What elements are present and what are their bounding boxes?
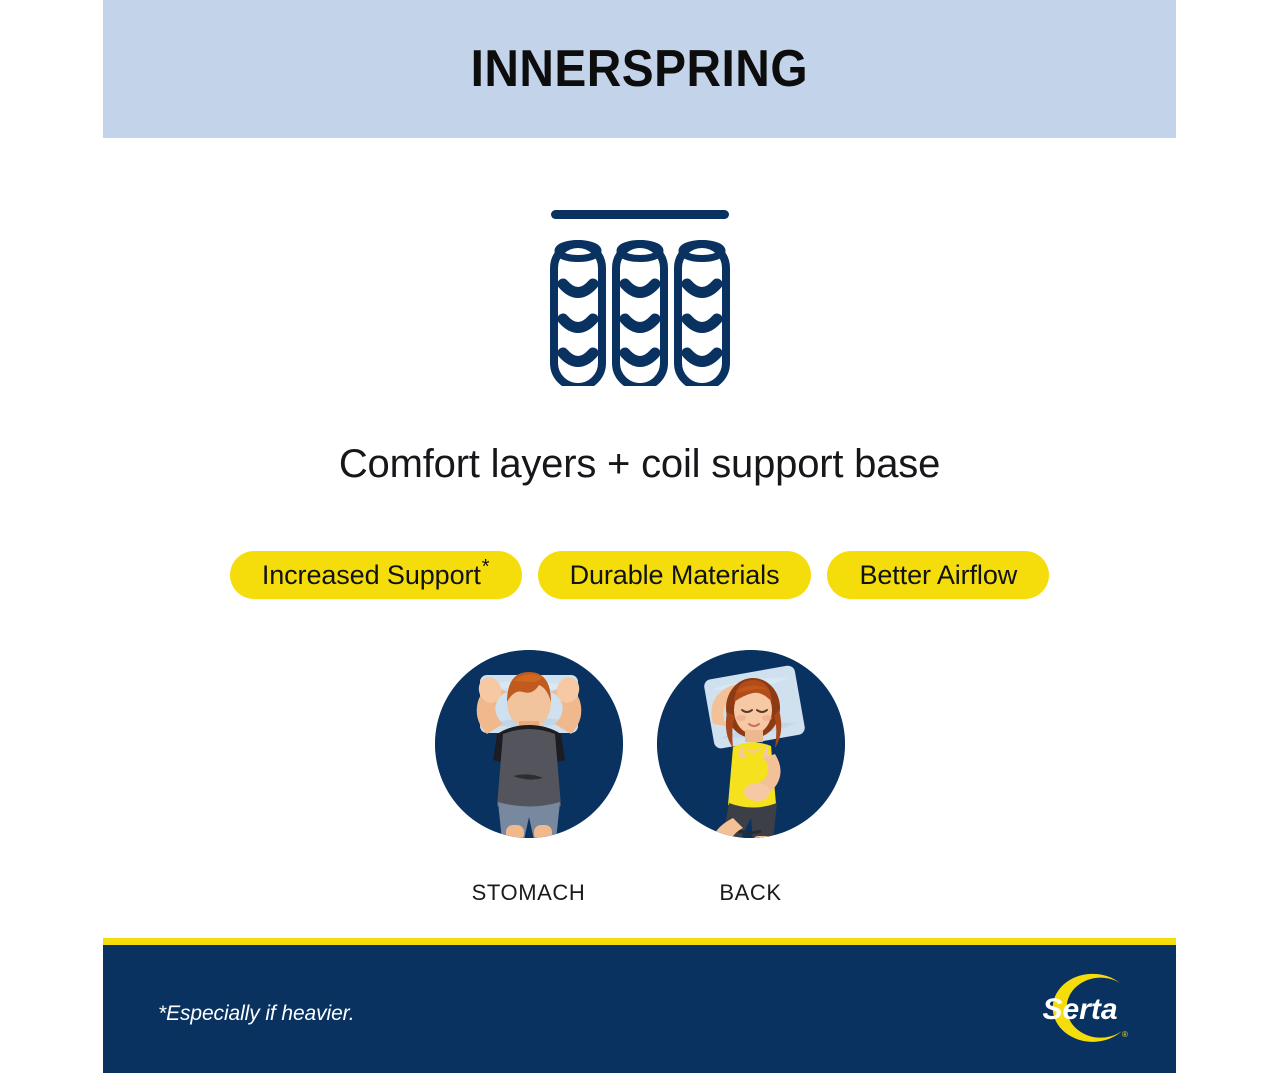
feature-pill-label: Increased Support: [262, 562, 481, 589]
infographic-page: INNERSPRING: [0, 0, 1280, 1073]
stomach-sleeper-circle: [435, 650, 623, 838]
coil-icon-container: [103, 196, 1176, 386]
coil-springs-icon: [540, 196, 740, 386]
feature-pill-row: Increased Support* Durable Materials Bet…: [103, 551, 1176, 599]
footer-bar: *Especially if heavier. Serta ®: [103, 945, 1176, 1073]
sleep-position-label: STOMACH: [472, 880, 586, 906]
stomach-sleeper-illustration: [435, 650, 623, 838]
back-sleeper-illustration: [657, 650, 845, 838]
feature-pill-label: Better Airflow: [859, 562, 1017, 589]
feature-pill-increased-support[interactable]: Increased Support*: [230, 551, 522, 599]
back-sleeper-circle: [657, 650, 845, 838]
footer-accent-rule: [103, 938, 1176, 945]
page-title: INNERSPRING: [471, 39, 808, 99]
feature-pill-better-airflow[interactable]: Better Airflow: [827, 551, 1049, 599]
feature-pill-label: Durable Materials: [570, 562, 780, 589]
sleep-position-stomach[interactable]: STOMACH: [435, 650, 623, 906]
header-banner: INNERSPRING: [103, 0, 1176, 138]
feature-pill-durable-materials[interactable]: Durable Materials: [538, 551, 812, 599]
serta-logo[interactable]: Serta ®: [1030, 961, 1134, 1057]
sleep-position-back[interactable]: BACK: [657, 650, 845, 906]
subtitle-text: Comfort layers + coil support base: [103, 442, 1176, 487]
content-card: INNERSPRING: [103, 0, 1176, 1073]
registered-trademark-mark: ®: [1122, 1030, 1128, 1039]
footnote-asterisk: *: [482, 556, 490, 579]
sleep-position-row: STOMACH: [103, 650, 1176, 906]
sleep-position-label: BACK: [719, 880, 781, 906]
footnote-text: *Especially if heavier.: [158, 1002, 355, 1026]
serta-wordmark: Serta: [1042, 993, 1117, 1026]
